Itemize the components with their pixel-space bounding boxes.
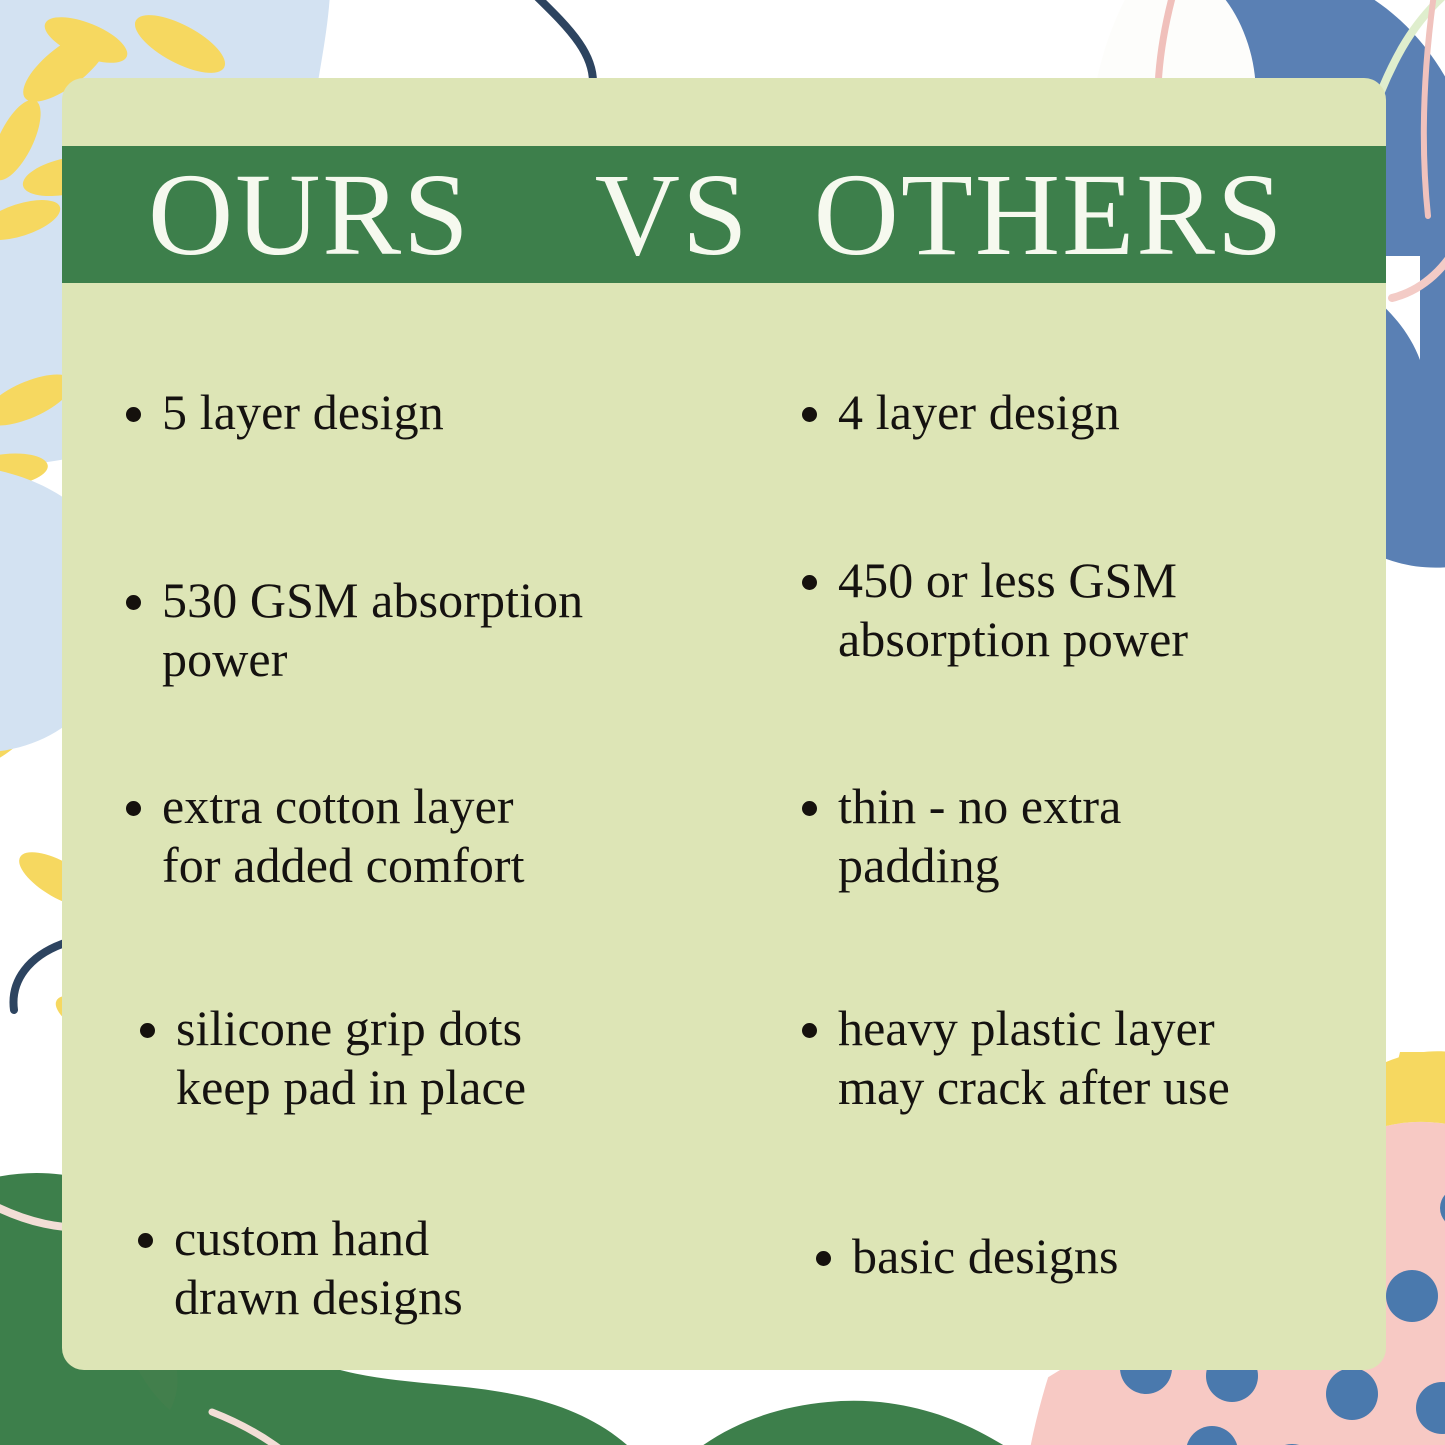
- header-label-vs: VS: [595, 156, 750, 274]
- bullet-dot-icon: [138, 1233, 153, 1248]
- list-item-label: 5 layer design: [162, 383, 444, 442]
- bullet-dot-icon: [816, 1251, 831, 1266]
- list-item: extra cotton layer for added comfort: [126, 777, 525, 895]
- list-item-label: thin - no extra padding: [838, 777, 1121, 895]
- list-item-label: custom hand drawn designs: [174, 1209, 463, 1327]
- list-item-label: basic designs: [852, 1227, 1119, 1286]
- bullet-dot-icon: [126, 801, 141, 816]
- bullet-dot-icon: [126, 407, 141, 422]
- bullet-dot-icon: [126, 595, 141, 610]
- bullet-dot-icon: [802, 801, 817, 816]
- list-item: 530 GSM absorption power: [126, 571, 583, 689]
- list-item: heavy plastic layer may crack after use: [802, 999, 1230, 1117]
- list-item-label: silicone grip dots keep pad in place: [176, 999, 526, 1117]
- list-item: 5 layer design: [126, 383, 444, 442]
- bullet-dot-icon: [802, 407, 817, 422]
- card-header-band: OURS VS OTHERS: [62, 146, 1386, 283]
- others-column: 4 layer design 450 or less GSM absorptio…: [724, 283, 1386, 1370]
- list-item-label: 4 layer design: [838, 383, 1120, 442]
- header-label-others: OTHERS: [814, 156, 1285, 274]
- list-item: 4 layer design: [802, 383, 1120, 442]
- list-item: 450 or less GSM absorption power: [802, 551, 1188, 669]
- header-label-ours: OURS: [148, 156, 471, 274]
- list-item-label: 530 GSM absorption power: [162, 571, 583, 689]
- ours-column: 5 layer design 530 GSM absorption power …: [62, 283, 724, 1370]
- list-item-label: extra cotton layer for added comfort: [162, 777, 525, 895]
- list-item: basic designs: [816, 1227, 1119, 1286]
- comparison-body: 5 layer design 530 GSM absorption power …: [62, 283, 1386, 1370]
- yellow-wedge-2-icon: [1394, 1052, 1445, 1132]
- list-item-label: heavy plastic layer may crack after use: [838, 999, 1230, 1117]
- bullet-dot-icon: [802, 575, 817, 590]
- comparison-card: OURS VS OTHERS 5 layer design 530 GSM ab…: [62, 78, 1386, 1370]
- bullet-dot-icon: [802, 1023, 817, 1038]
- list-item: silicone grip dots keep pad in place: [140, 999, 526, 1117]
- header-title-row: OURS VS OTHERS: [62, 156, 1386, 274]
- bullet-dot-icon: [140, 1023, 155, 1038]
- list-item: custom hand drawn designs: [138, 1209, 463, 1327]
- list-item: thin - no extra padding: [802, 777, 1121, 895]
- list-item-label: 450 or less GSM absorption power: [838, 551, 1188, 669]
